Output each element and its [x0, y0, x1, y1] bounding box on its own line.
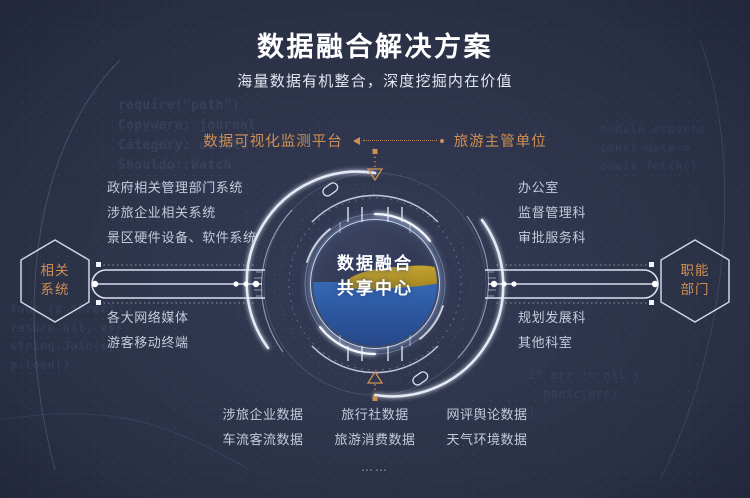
hexagon-left-line1: 相关	[41, 262, 70, 281]
center-sphere: 数据融合 共享中心	[313, 222, 437, 346]
list-item: 规划发展科	[518, 306, 586, 331]
list-item: 天气环境数据	[431, 429, 543, 448]
caption-authority: 旅游主管单位	[454, 130, 547, 151]
right-column-bottom: 规划发展科 其他科室	[518, 306, 586, 356]
right-column-top: 办公室 监督管理科 审批服务科	[518, 176, 586, 251]
caption-platform: 数据可视化监测平台	[203, 130, 343, 151]
bottom-data-grid: 涉旅企业数据 旅行社数据 网评舆论数据 车流客流数据 旅游消费数据 天气环境数据…	[0, 404, 750, 474]
list-item: 政府相关管理部门系统	[107, 176, 257, 201]
center-label: 数据融合 共享中心	[313, 252, 437, 302]
hexagon-right: 职能 部门	[657, 237, 733, 325]
list-item: 各大网络媒体	[107, 306, 189, 331]
list-item: 旅游消费数据	[319, 429, 431, 448]
hexagon-left: 相关 系统	[17, 237, 93, 325]
arrow-left-icon	[353, 137, 360, 145]
list-item: 游客移动终端	[107, 331, 189, 356]
table-row: 涉旅企业数据 旅行社数据 网评舆论数据	[207, 404, 543, 423]
hexagon-right-line1: 职能	[681, 262, 710, 281]
list-item: 涉旅企业相关系统	[107, 201, 257, 226]
list-item: 涉旅企业数据	[207, 404, 319, 423]
ellipsis-label: ……	[361, 460, 389, 474]
dotted-line	[363, 140, 437, 141]
center-label-line2: 共享中心	[313, 277, 437, 302]
hexagon-right-line2: 部门	[681, 281, 710, 300]
list-item: 审批服务科	[518, 226, 586, 251]
hexagon-right-label: 职能 部门	[681, 262, 710, 300]
hexagon-left-label: 相关 系统	[41, 262, 70, 300]
list-item: 旅行社数据	[319, 404, 431, 423]
caption-connector	[353, 137, 444, 145]
list-item: 办公室	[518, 176, 586, 201]
list-item: 网评舆论数据	[431, 404, 543, 423]
list-item: 其他科室	[518, 331, 586, 356]
list-item: 景区硬件设备、软件系统	[107, 226, 257, 251]
page-subtitle: 海量数据有机整合，深度挖掘内在价值	[0, 70, 750, 91]
caption-row: 数据可视化监测平台 旅游主管单位	[0, 130, 750, 151]
left-column-top: 政府相关管理部门系统 涉旅企业相关系统 景区硬件设备、软件系统	[107, 176, 257, 251]
endpoint-dot-icon	[440, 139, 444, 143]
table-row: 车流客流数据 旅游消费数据 天气环境数据	[207, 429, 543, 448]
infographic-canvas: require("path") Copyware: journal Catego…	[0, 0, 750, 498]
list-item: 监督管理科	[518, 201, 586, 226]
left-column-bottom: 各大网络媒体 游客移动终端	[107, 306, 189, 356]
center-label-line1: 数据融合	[313, 252, 437, 277]
hexagon-left-line2: 系统	[41, 281, 70, 300]
list-item: 车流客流数据	[207, 429, 319, 448]
page-title: 数据融合解决方案	[0, 25, 750, 64]
